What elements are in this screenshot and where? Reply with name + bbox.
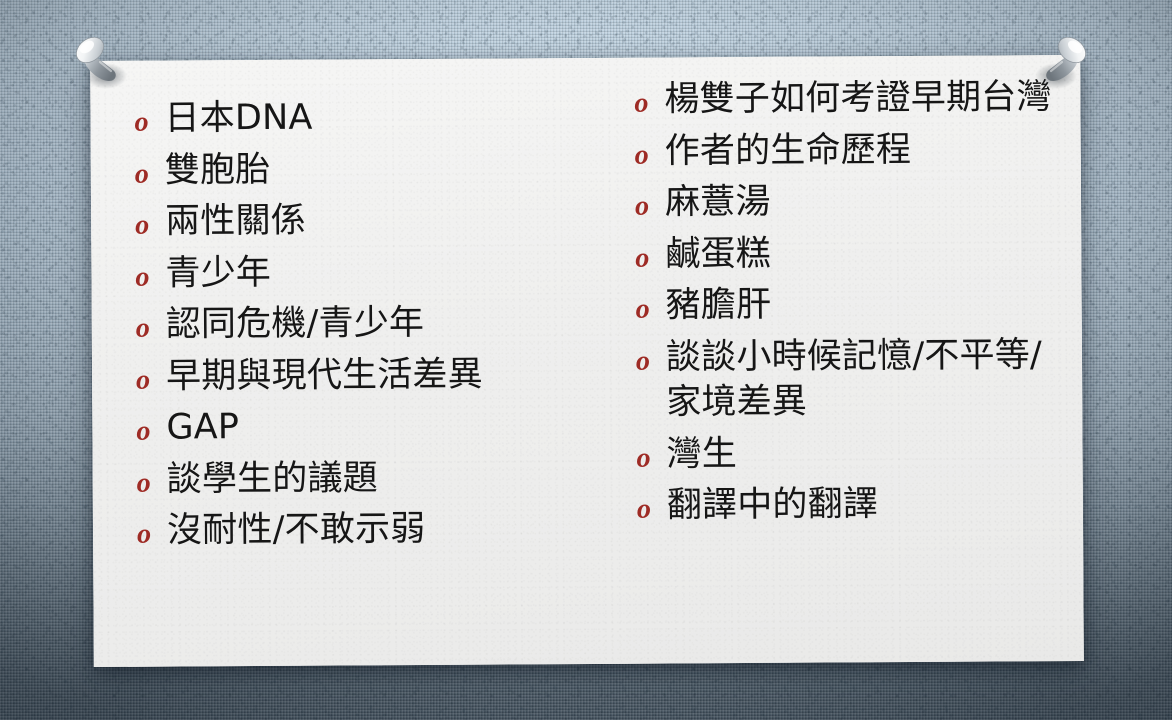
list-item-label: 兩性關係 — [165, 197, 607, 245]
list-item: o 日本DNA — [134, 94, 606, 142]
circle-bullet-icon: o — [136, 303, 166, 343]
list-item-label: 鹹蛋糕 — [665, 230, 1059, 278]
list-item: o 鹹蛋糕 — [635, 230, 1059, 278]
list-item-label: 作者的生命歷程 — [665, 127, 1059, 175]
list-item-label: 豬膽肝 — [666, 281, 1060, 329]
list-item-label: 青少年 — [165, 248, 607, 296]
list-item: o 雙胞胎 — [135, 145, 607, 193]
circle-bullet-icon: o — [634, 78, 664, 118]
list-item: o 灣生 — [636, 430, 1060, 478]
circle-bullet-icon: o — [135, 200, 165, 240]
left-column: o 日本DNA o 雙胞胎 o 兩性關係 o 青少年 o 認同危機/青少年 — [134, 76, 609, 651]
circle-bullet-icon: o — [636, 432, 666, 472]
circle-bullet-icon: o — [635, 129, 665, 169]
list-item: o 談學生的議題 — [137, 454, 609, 502]
circle-bullet-icon: o — [635, 232, 665, 272]
circle-bullet-icon: o — [635, 181, 665, 221]
list-item: o 認同危機/青少年 — [136, 300, 608, 348]
circle-bullet-icon: o — [134, 97, 164, 137]
slide-canvas: o 日本DNA o 雙胞胎 o 兩性關係 o 青少年 o 認同危機/青少年 — [0, 0, 1172, 720]
list-item: o GAP — [136, 403, 608, 451]
circle-bullet-icon: o — [137, 457, 167, 497]
circle-bullet-icon: o — [135, 148, 165, 188]
list-item: o 豬膽肝 — [636, 281, 1060, 329]
circle-bullet-icon: o — [137, 509, 167, 549]
circle-bullet-icon: o — [135, 251, 165, 291]
list-item: o 兩性關係 — [135, 197, 607, 245]
list-item-label: 麻薏湯 — [665, 178, 1059, 226]
circle-bullet-icon: o — [136, 406, 166, 446]
bullet-columns: o 日本DNA o 雙胞胎 o 兩性關係 o 青少年 o 認同危機/青少年 — [90, 55, 1084, 667]
list-item-label: 灣生 — [666, 430, 1060, 478]
list-item-label: 早期與現代生活差異 — [166, 351, 608, 399]
circle-bullet-icon: o — [636, 284, 666, 324]
circle-bullet-icon: o — [636, 335, 666, 375]
list-item: o 作者的生命歷程 — [635, 127, 1059, 175]
list-item-label: 談學生的議題 — [167, 454, 609, 502]
list-item: o 麻薏湯 — [635, 178, 1059, 226]
circle-bullet-icon: o — [637, 484, 667, 524]
list-item: o 談談小時候記憶/不平等/家境差異 — [636, 333, 1061, 427]
list-item: o 青少年 — [135, 248, 607, 296]
list-item: o 楊雙子如何考證早期台灣 — [634, 75, 1058, 123]
list-item-label: 楊雙子如何考證早期台灣 — [664, 75, 1058, 123]
list-item: o 沒耐性/不敢示弱 — [137, 506, 609, 554]
list-item-label: GAP — [166, 403, 608, 451]
pinned-paper: o 日本DNA o 雙胞胎 o 兩性關係 o 青少年 o 認同危機/青少年 — [90, 55, 1084, 667]
right-column: o 楊雙子如何考證早期台灣 o 作者的生命歷程 o 麻薏湯 o 鹹蛋糕 o — [606, 73, 1061, 648]
list-item-label: 日本DNA — [164, 94, 606, 142]
list-item-label: 沒耐性/不敢示弱 — [167, 506, 609, 554]
list-item-label: 雙胞胎 — [165, 145, 607, 193]
list-item: o 早期與現代生活差異 — [136, 351, 608, 399]
list-item-label: 談談小時候記憶/不平等/家境差異 — [666, 333, 1061, 426]
list-item-label: 認同危機/青少年 — [166, 300, 608, 348]
list-item: o 翻譯中的翻譯 — [637, 481, 1061, 529]
list-item-label: 翻譯中的翻譯 — [667, 481, 1061, 529]
circle-bullet-icon: o — [136, 354, 166, 394]
